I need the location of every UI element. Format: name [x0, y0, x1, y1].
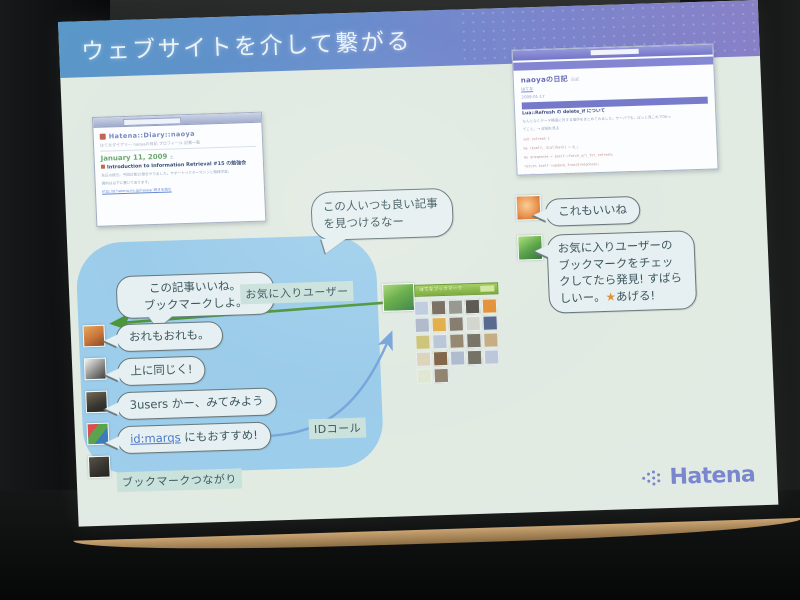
thumbnail [467, 350, 483, 365]
thumbnail [415, 334, 431, 349]
thumbnail [416, 351, 432, 366]
id-call-link[interactable]: id:marqs [130, 430, 181, 446]
speech-bubble: id:marqs にもおすすめ! [117, 422, 272, 454]
thumbnail [433, 351, 449, 366]
thumbnail [448, 299, 464, 314]
toolbar-label: はてなブックマーク [419, 285, 462, 292]
thumbnail [465, 299, 481, 314]
star-icon [417, 368, 433, 383]
thumbnail [414, 300, 430, 315]
bubble-text-2: あげる! [616, 288, 656, 303]
favorite-user-thumbnail-grid [414, 298, 509, 384]
toolbar-button[interactable] [480, 285, 494, 291]
bubble-tail [105, 436, 120, 449]
thumbnail [432, 334, 448, 349]
bubble-tail [533, 209, 548, 222]
bubble-tail [105, 402, 120, 415]
projection-screen: ウェブサイトを介して繋がる Hatena::Diary::naoya はてなダイ… [58, 0, 779, 542]
thumbnail [431, 317, 447, 332]
bubble-text: にもおすすめ! [180, 428, 258, 444]
bubble-text: 3users かー、みてみよう [129, 394, 263, 412]
thumbnail [466, 333, 482, 348]
speech-bubble: 上に同じく! [117, 356, 206, 386]
speech-bubble: これもいいね [545, 196, 641, 226]
bubble-text: この人いつも良い記事を見つけるなー [323, 196, 439, 231]
hatena-wordmark: Hatena [669, 462, 756, 490]
bubble-tail [535, 245, 550, 258]
thumbnail [483, 332, 499, 347]
speech-bubble: 3users かー、みてみよう [116, 387, 277, 420]
bubble-text: これもいいね [558, 202, 627, 218]
thumbnail [434, 368, 450, 383]
avatar [82, 325, 105, 348]
bubble-text: おれもおれも。 [129, 327, 210, 344]
label-bookmark-link: ブックマークつながり [117, 468, 243, 492]
photo-of-projected-slide: ウェブサイトを介して繋がる Hatena::Diary::naoya はてなダイ… [0, 0, 800, 600]
thumbnail [414, 317, 430, 332]
speech-bubble: おれもおれも。 [115, 321, 223, 352]
avatar [88, 456, 111, 479]
bubble-tail [104, 334, 119, 347]
thumbnail [465, 316, 481, 331]
bubble-tail [321, 238, 348, 254]
bubble-tail [105, 368, 120, 381]
speech-bubble: お気に入りユーザーのブックマークをチェックしてたら発見! すばらしいー。★あげる… [546, 230, 697, 313]
thumbnail [448, 316, 464, 331]
thumbnail [482, 315, 498, 330]
bubble-text: 上に同じく! [130, 362, 193, 378]
thumbnail [431, 300, 447, 315]
thought-bubble: この人いつも良い記事を見つけるなー [310, 188, 454, 241]
rss-icon [482, 298, 498, 313]
avatar-favorite-user [382, 283, 415, 312]
label-favorite-user: お気に入りユーザー [240, 281, 354, 305]
hatena-mark-icon [642, 470, 665, 487]
avatar [84, 358, 107, 381]
thumbnail [484, 349, 500, 364]
label-id-call: IDコール [309, 418, 367, 440]
thumbnail [449, 333, 465, 348]
hatena-logo: Hatena [642, 462, 756, 491]
thumbnail [450, 350, 466, 365]
slide-canvas: ウェブサイトを介して繋がる Hatena::Diary::naoya はてなダイ… [58, 0, 778, 527]
